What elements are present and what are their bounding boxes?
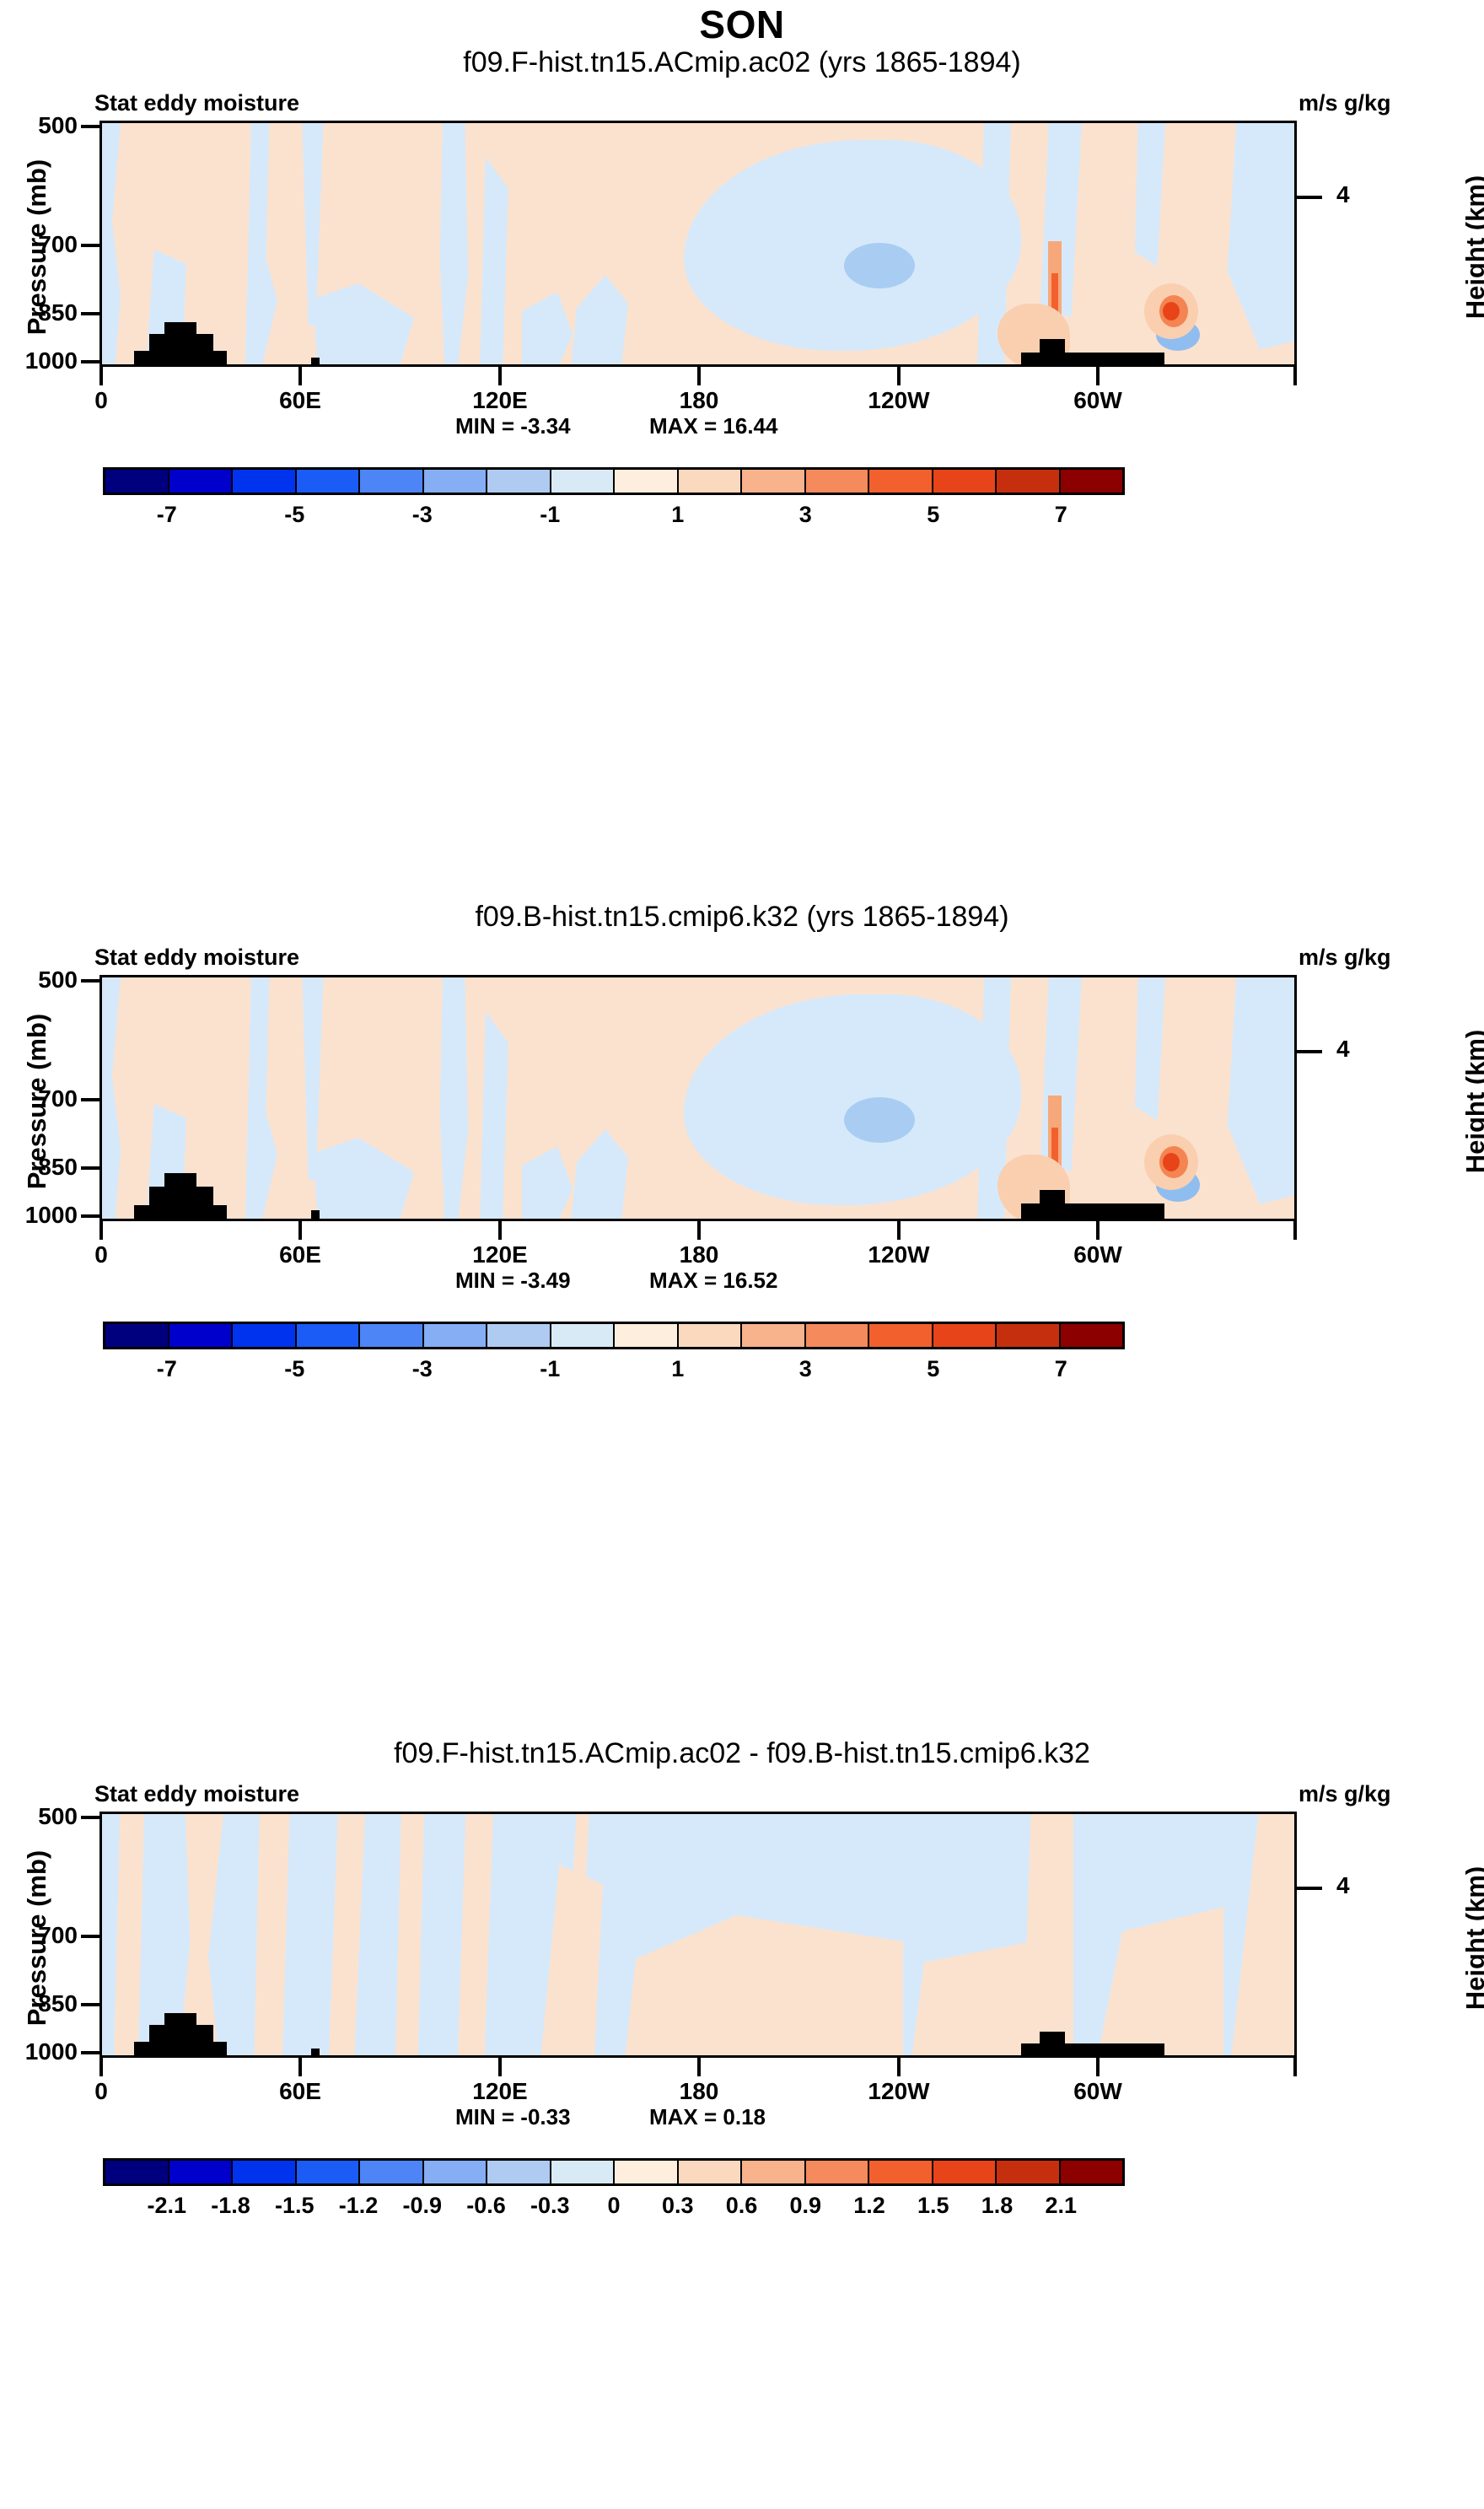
y-tick [81, 244, 99, 247]
topography-mask [1021, 1203, 1164, 1221]
colorbar-cell [869, 2161, 933, 2183]
colorbar-tick-label: -1.8 [211, 2193, 250, 2219]
topography-mask [134, 1205, 227, 1221]
x-tick-label: 180 [632, 1241, 766, 1268]
colorbar-tick-label: 7 [1055, 502, 1067, 528]
colorbar-cell [1061, 1324, 1123, 1347]
x-tick [697, 367, 701, 385]
right-axis-title: Height (km) [1460, 121, 1484, 374]
colorbar-cell [424, 1324, 488, 1347]
topography-mask [1040, 1190, 1065, 1205]
y-tick [81, 125, 99, 128]
colorbar-cell [679, 1324, 743, 1347]
topography-mask [311, 2049, 320, 2058]
topography-mask [164, 322, 196, 336]
colorbar-cell [487, 470, 551, 493]
x-tick [1096, 2058, 1100, 2076]
y-tick [81, 1816, 99, 1819]
contour-plot[interactable] [99, 1812, 1297, 2058]
topography-mask [164, 1173, 196, 1188]
figure-title: SON [0, 2, 1484, 47]
colorbar-cell [233, 1324, 297, 1347]
x-tick-label: 180 [632, 2078, 766, 2105]
right-tick-label: 4 [1336, 1872, 1350, 1899]
y-tick-label: 850 [0, 1990, 78, 2017]
x-tick [1293, 2058, 1297, 2076]
x-tick [897, 1221, 901, 1240]
colorbar-tick-label: 1.2 [853, 2193, 885, 2219]
x-tick [697, 1221, 701, 1240]
colorbar-tick-label: 0.9 [789, 2193, 821, 2219]
colorbar-tick-label: 2.1 [1045, 2193, 1077, 2219]
colorbar-cell [233, 470, 297, 493]
topography-mask [149, 334, 213, 353]
y-tick [81, 1214, 99, 1218]
colorbar-tick-label: 3 [799, 1356, 812, 1382]
right-tick [1297, 1050, 1322, 1053]
colorbar-tick-label: -0.9 [402, 2193, 442, 2219]
colorbar-tick-label: -7 [157, 1356, 177, 1382]
y-tick-label: 1000 [0, 2038, 78, 2065]
topography-mask [134, 351, 227, 367]
colorbar-cell [806, 2161, 870, 2183]
colorbar-tick-label: 1 [671, 1356, 684, 1382]
colorbar-tick-label: 1.5 [917, 2193, 949, 2219]
right-tick [1297, 1887, 1322, 1890]
colorbar-tick-label: -5 [284, 502, 304, 528]
min-value: MIN = -3.34 [455, 413, 571, 439]
x-tick-label: 120W [831, 1241, 966, 1268]
x-tick-label: 120W [831, 2078, 966, 2105]
y-tick [81, 1166, 99, 1170]
colorbar-cell [742, 1324, 806, 1347]
colorbar-tick-label: -7 [157, 502, 177, 528]
right-tick-label: 4 [1336, 1036, 1350, 1063]
x-tick-label: 60W [1030, 1241, 1165, 1268]
colorbar-cell [679, 470, 743, 493]
y-tick [81, 2003, 99, 2006]
y-tick-label: 700 [0, 1922, 78, 1949]
colorbar-cell [933, 470, 997, 493]
contour-plot[interactable] [99, 975, 1297, 1221]
colorbar-cell [105, 1324, 169, 1347]
topography-mask [1021, 2043, 1164, 2058]
colorbar-tick-label: -1.2 [339, 2193, 379, 2219]
x-tick [498, 367, 502, 385]
colorbar-tick-label: -5 [284, 1356, 304, 1382]
colorbar-cell [869, 1324, 933, 1347]
colorbar-cell [297, 1324, 361, 1347]
colorbar-tick-label: -1 [540, 1356, 560, 1382]
x-tick-label: 120E [433, 2078, 567, 2105]
colorbar-cell [233, 2161, 297, 2183]
colorbar-cell [360, 2161, 424, 2183]
y-tick-label: 700 [0, 231, 78, 258]
colorbar-tick-label: -1.5 [275, 2193, 315, 2219]
x-tick [298, 2058, 302, 2076]
x-tick-label: 60E [233, 387, 368, 414]
colorbar-tick-label: 7 [1055, 1356, 1067, 1382]
y-tick-label: 850 [0, 1154, 78, 1181]
colorbar-cell [997, 2161, 1061, 2183]
colorbar-cell [933, 1324, 997, 1347]
colorbar-cell [487, 2161, 551, 2183]
y-tick-label: 850 [0, 299, 78, 326]
colorbar-cell [424, 470, 488, 493]
colorbar-tick-label: 5 [927, 502, 939, 528]
colorbar-tick-label: -3 [412, 502, 433, 528]
colorbar-tick-label: 1 [671, 502, 684, 528]
right-axis-title: Height (km) [1460, 975, 1484, 1228]
colorbar-cell [487, 1324, 551, 1347]
variable-label: Stat eddy moisture [94, 90, 299, 116]
x-tick-label: 0 [34, 387, 169, 414]
colorbar-cell [424, 2161, 488, 2183]
y-tick-label: 500 [0, 112, 78, 139]
y-tick-label: 700 [0, 1085, 78, 1112]
topography-mask [149, 1187, 213, 1207]
x-tick [298, 1221, 302, 1240]
colorbar-tick-label: 0.6 [726, 2193, 758, 2219]
x-tick-label: 0 [34, 2078, 169, 2105]
colorbar-tick-label: 5 [927, 1356, 939, 1382]
max-value: MAX = 0.18 [649, 2104, 766, 2130]
colorbar-cell [169, 2161, 234, 2183]
colorbar-cell [1061, 470, 1123, 493]
units-label: m/s g/kg [1298, 945, 1391, 971]
colorbar-cell [806, 1324, 870, 1347]
x-tick [99, 2058, 103, 2076]
y-tick [81, 1935, 99, 1938]
colorbar-cell [169, 1324, 234, 1347]
colorbar-cell [297, 470, 361, 493]
colorbar-labels: -2.1-1.8-1.5-1.2-0.9-0.6-0.300.30.60.91.… [103, 2193, 1125, 2226]
colorbar-cell [1061, 2161, 1123, 2183]
max-value: MAX = 16.52 [649, 1268, 777, 1294]
panel-title: f09.B-hist.tn15.cmip6.k32 (yrs 1865-1894… [0, 901, 1484, 934]
colorbar-cell [933, 2161, 997, 2183]
colorbar-cell [551, 470, 616, 493]
variable-label: Stat eddy moisture [94, 1781, 299, 1807]
max-value: MAX = 16.44 [649, 413, 777, 439]
right-axis-title: Height (km) [1460, 1812, 1484, 2065]
y-tick [81, 1098, 99, 1101]
topography-mask [311, 358, 320, 367]
x-tick-label: 60E [233, 2078, 368, 2105]
colorbar-cell [105, 470, 169, 493]
x-tick-label: 60W [1030, 2078, 1165, 2105]
colorbar-cell [742, 2161, 806, 2183]
x-tick [1293, 367, 1297, 385]
colorbar-cell [360, 1324, 424, 1347]
x-tick [498, 2058, 502, 2076]
topography-mask [134, 2042, 227, 2058]
variable-label: Stat eddy moisture [94, 945, 299, 971]
topography-mask [149, 2025, 213, 2043]
y-tick-label: 1000 [0, 347, 78, 374]
min-value: MIN = -3.49 [455, 1268, 571, 1294]
x-tick [1096, 367, 1100, 385]
colorbar-cell [615, 470, 679, 493]
colorbar-labels: -7-5-3-11357 [103, 502, 1125, 536]
colorbar-cell [615, 2161, 679, 2183]
y-tick-label: 1000 [0, 1202, 78, 1229]
colorbar-cell [105, 2161, 169, 2183]
y-tick [81, 979, 99, 983]
x-tick [99, 367, 103, 385]
right-tick [1297, 196, 1322, 199]
x-tick [498, 1221, 502, 1240]
colorbar-cell [551, 1324, 616, 1347]
colorbar-tick-label: 0.3 [662, 2193, 694, 2219]
x-tick [897, 367, 901, 385]
x-tick-label: 60W [1030, 387, 1165, 414]
min-value: MIN = -0.33 [455, 2104, 571, 2130]
y-tick [81, 2051, 99, 2054]
colorbar-cell [806, 470, 870, 493]
topography-mask [1021, 353, 1164, 367]
colorbar-cell [679, 2161, 743, 2183]
colorbar-tick-label: -0.6 [466, 2193, 506, 2219]
colorbar-cell [742, 470, 806, 493]
panel-title: f09.F-hist.tn15.ACmip.ac02 - f09.B-hist.… [0, 1737, 1484, 1770]
colorbar-labels: -7-5-3-11357 [103, 1356, 1125, 1390]
units-label: m/s g/kg [1298, 90, 1391, 116]
colorbar-tick-label: -3 [412, 1356, 433, 1382]
x-tick-label: 0 [34, 1241, 169, 1268]
colorbar[interactable] [103, 467, 1125, 495]
colorbar-tick-label: 1.8 [981, 2193, 1014, 2219]
x-tick [697, 2058, 701, 2076]
x-tick-label: 60E [233, 1241, 368, 1268]
colorbar-tick-label: -0.3 [530, 2193, 570, 2219]
x-tick [298, 367, 302, 385]
topography-mask [1040, 2032, 1065, 2045]
y-tick [81, 360, 99, 363]
x-tick [897, 2058, 901, 2076]
colorbar-cell [297, 2161, 361, 2183]
colorbar-cell [360, 470, 424, 493]
x-tick-label: 180 [632, 387, 766, 414]
topography-mask [311, 1210, 320, 1221]
y-tick-label: 500 [0, 966, 78, 993]
colorbar-tick-label: 3 [799, 502, 812, 528]
colorbar-cell [551, 2161, 616, 2183]
x-tick [1293, 1221, 1297, 1240]
colorbar-cell [615, 1324, 679, 1347]
contour-plot[interactable] [99, 121, 1297, 367]
topography-mask [164, 2013, 196, 2027]
colorbar-cell [997, 1324, 1061, 1347]
panel-title: f09.F-hist.tn15.ACmip.ac02 (yrs 1865-189… [0, 46, 1484, 79]
colorbar-tick-label: -1 [540, 502, 560, 528]
x-tick-label: 120E [433, 387, 567, 414]
right-tick-label: 4 [1336, 181, 1350, 208]
colorbar-cell [169, 470, 234, 493]
x-tick-label: 120W [831, 387, 966, 414]
colorbar-tick-label: -2.1 [147, 2193, 186, 2219]
colorbar[interactable] [103, 1322, 1125, 1349]
colorbar[interactable] [103, 2158, 1125, 2186]
x-tick [99, 1221, 103, 1240]
units-label: m/s g/kg [1298, 1781, 1391, 1807]
y-tick [81, 312, 99, 315]
topography-mask [1040, 339, 1065, 354]
colorbar-tick-label: 0 [607, 2193, 620, 2219]
x-tick-label: 120E [433, 1241, 567, 1268]
colorbar-cell [997, 470, 1061, 493]
colorbar-cell [869, 470, 933, 493]
x-tick [1096, 1221, 1100, 1240]
y-tick-label: 500 [0, 1803, 78, 1830]
